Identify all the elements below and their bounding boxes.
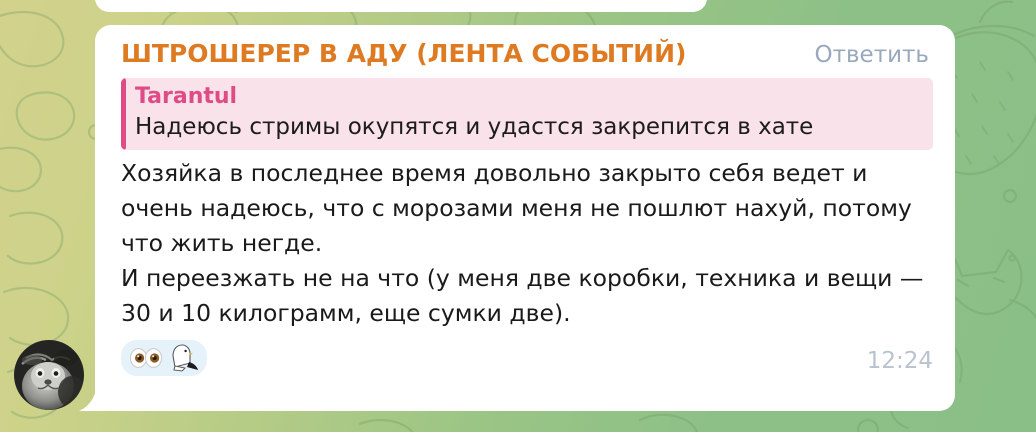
dove-icon[interactable] (165, 343, 199, 373)
message-paragraph: И переезжать не на что (у меня две короб… (121, 261, 941, 331)
quoted-reply-block[interactable]: Tarantul Надеюсь стримы окупятся и удаст… (121, 78, 933, 150)
avatar[interactable] (14, 340, 84, 410)
reactions-pill[interactable] (121, 340, 207, 376)
message-timestamp: 12:24 (867, 348, 933, 376)
message-bubble[interactable]: ШТРОШЕРЕР В АДУ (ЛЕНТА СОБЫТИЙ) Ответить… (95, 25, 955, 411)
message-body: Хозяйка в последнее время довольно закры… (121, 156, 941, 331)
message-paragraph: Хозяйка в последнее время довольно закры… (121, 156, 941, 261)
quote-accent-bar (121, 78, 126, 150)
reply-button[interactable]: Ответить (814, 40, 933, 70)
eyes-icon[interactable] (129, 343, 163, 373)
avatar-photo (14, 340, 84, 410)
previous-message-bubble[interactable] (95, 0, 707, 12)
message-header: ШТРОШЕРЕР В АДУ (ЛЕНТА СОБЫТИЙ) Ответить (121, 39, 933, 70)
quote-text: Надеюсь стримы окупятся и удастся закреп… (135, 111, 921, 143)
quote-author-name[interactable]: Tarantul (135, 83, 921, 111)
message-footer: 12:24 (121, 340, 933, 376)
channel-title: ШТРОШЕРЕР В АДУ (ЛЕНТА СОБЫТИЙ) (121, 39, 686, 69)
